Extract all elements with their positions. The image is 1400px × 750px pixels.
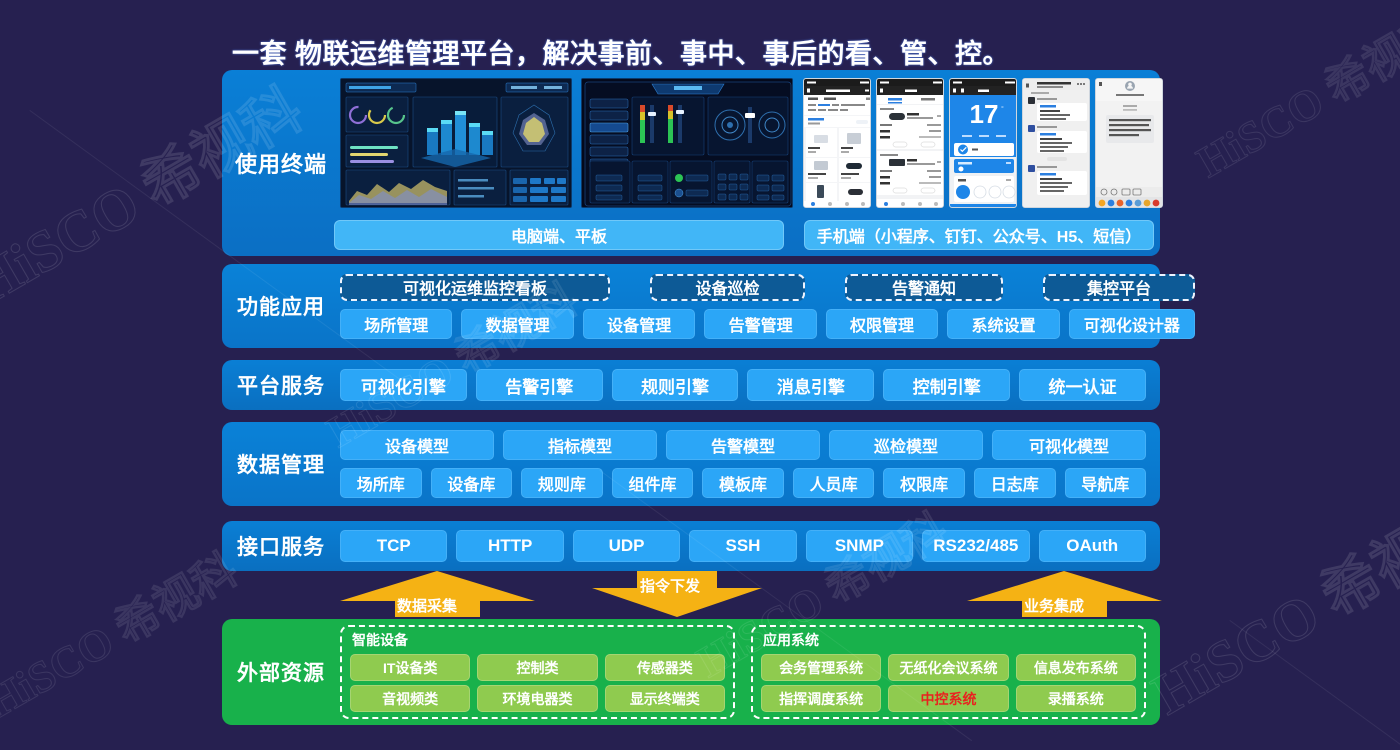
arrow-business-integration: 业务集成 bbox=[967, 571, 1162, 622]
terminal-caption-bar: 电脑端、平板 手机端（小程序、钉钉、公众号、H5、短信） bbox=[222, 220, 1160, 250]
function-apps-highlight-row: 可视化运维监控看板 设备巡检 告警通知 集控平台 bbox=[340, 274, 1195, 301]
repo-device[interactable]: 设备库 bbox=[431, 468, 513, 498]
ext-display-terminals[interactable]: 显示终端类 bbox=[605, 685, 725, 712]
module-alarm-management[interactable]: 告警管理 bbox=[704, 309, 816, 339]
api-oauth[interactable]: OAuth bbox=[1039, 530, 1146, 562]
page-title: 一套 物联运维管理平台，解决事前、事中、事后的看、管、控。 bbox=[232, 32, 1010, 71]
repo-log[interactable]: 日志库 bbox=[974, 468, 1056, 498]
group-title-smart-devices: 智能设备 bbox=[352, 630, 725, 650]
service-unified-auth[interactable]: 统一认证 bbox=[1019, 369, 1146, 401]
section-label-data-management: 数据管理 bbox=[222, 449, 340, 479]
module-device-management[interactable]: 设备管理 bbox=[583, 309, 695, 339]
service-control-engine[interactable]: 控制引擎 bbox=[883, 369, 1010, 401]
section-data-management: 数据管理 设备模型 指标模型 告警模型 巡检模型 可视化模型 场所库 设备库 规… bbox=[222, 422, 1160, 506]
section-label-platform-services: 平台服务 bbox=[222, 370, 340, 400]
arrow-label-business-integration: 业务集成 bbox=[1024, 595, 1084, 616]
api-http[interactable]: HTTP bbox=[456, 530, 563, 562]
ext-sensors[interactable]: 传感器类 bbox=[605, 654, 725, 681]
arrow-label-command-dispatch: 指令下发 bbox=[640, 575, 700, 596]
function-apps-module-row: 场所管理 数据管理 设备管理 告警管理 权限管理 系统设置 可视化设计器 bbox=[340, 309, 1195, 339]
group-application-systems: 应用系统 会务管理系统 无纸化会议系统 信息发布系统 指挥调度系统 中控系统 录… bbox=[751, 625, 1146, 719]
module-permission-management[interactable]: 权限管理 bbox=[826, 309, 938, 339]
repo-rule[interactable]: 规则库 bbox=[521, 468, 603, 498]
watermark-text: HiSCO 希视科 bbox=[0, 534, 247, 729]
svg-text:°: ° bbox=[1001, 105, 1004, 113]
ext-it-equipment[interactable]: IT设备类 bbox=[350, 654, 470, 681]
ext-recording-system[interactable]: 录播系统 bbox=[1016, 685, 1136, 712]
module-data-management[interactable]: 数据管理 bbox=[461, 309, 573, 339]
smart-devices-row-1: IT设备类 控制类 传感器类 bbox=[350, 654, 725, 681]
module-site-management[interactable]: 场所管理 bbox=[340, 309, 452, 339]
phone-device-list[interactable] bbox=[803, 78, 871, 208]
arrow-label-data-collection: 数据采集 bbox=[397, 595, 457, 616]
audio-console-screenshot[interactable] bbox=[581, 78, 793, 208]
phone-message-list[interactable] bbox=[1022, 78, 1090, 208]
section-external-resources: 外部资源 智能设备 IT设备类 控制类 传感器类 音视频类 环境电器类 显示终端… bbox=[222, 619, 1160, 725]
service-message-engine[interactable]: 消息引擎 bbox=[747, 369, 874, 401]
dashboard-screenshot[interactable] bbox=[340, 78, 572, 208]
phone-device-detail[interactable] bbox=[876, 78, 944, 208]
api-services-row: TCP HTTP UDP SSH SNMP RS232/485 OAuth bbox=[340, 530, 1160, 562]
ext-control-devices[interactable]: 控制类 bbox=[477, 654, 597, 681]
repo-template[interactable]: 模板库 bbox=[702, 468, 784, 498]
section-label-terminals: 使用终端 bbox=[222, 147, 340, 179]
platform-services-row: 可视化引擎 告警引擎 规则引擎 消息引擎 控制引擎 统一认证 bbox=[340, 369, 1160, 401]
smart-devices-row-2: 音视频类 环境电器类 显示终端类 bbox=[350, 685, 725, 712]
highlight-alarm-notification[interactable]: 告警通知 bbox=[845, 274, 1003, 301]
watermark-line bbox=[1229, 620, 1400, 750]
api-udp[interactable]: UDP bbox=[573, 530, 680, 562]
watermark-text: HiSCO 希视科 bbox=[1183, 0, 1400, 190]
arrow-data-collection: 数据采集 bbox=[340, 571, 535, 622]
application-systems-row-2: 指挥调度系统 中控系统 录播系统 bbox=[761, 685, 1136, 712]
infographic-root: HiSCO 希视科 HiSCO 希视科 HiSCO 希视科 HiSCO 希视科 … bbox=[0, 0, 1400, 750]
repo-personnel[interactable]: 人员库 bbox=[793, 468, 875, 498]
mobile-terminal-label: 手机端（小程序、钉钉、公众号、H5、短信） bbox=[804, 220, 1154, 250]
pc-terminal-label: 电脑端、平板 bbox=[334, 220, 784, 250]
section-api-services: 接口服务 TCP HTTP UDP SSH SNMP RS232/485 OAu… bbox=[222, 521, 1160, 571]
arrow-command-dispatch: 指令下发 bbox=[592, 571, 762, 622]
ext-command-dispatch-system[interactable]: 指挥调度系统 bbox=[761, 685, 881, 712]
highlight-visual-ops-dashboard[interactable]: 可视化运维监控看板 bbox=[340, 274, 610, 301]
model-metric[interactable]: 指标模型 bbox=[503, 430, 657, 460]
api-rs232-485[interactable]: RS232/485 bbox=[922, 530, 1029, 562]
section-platform-services: 平台服务 可视化引擎 告警引擎 规则引擎 消息引擎 控制引擎 统一认证 bbox=[222, 360, 1160, 410]
phone-thermostat[interactable]: 17 ° bbox=[949, 78, 1017, 208]
group-smart-devices: 智能设备 IT设备类 控制类 传感器类 音视频类 环境电器类 显示终端类 bbox=[340, 625, 735, 719]
section-label-function-apps: 功能应用 bbox=[222, 291, 340, 321]
module-system-settings[interactable]: 系统设置 bbox=[947, 309, 1059, 339]
ext-environment-appliances[interactable]: 环境电器类 bbox=[477, 685, 597, 712]
section-label-external-resources: 外部资源 bbox=[222, 657, 340, 687]
group-title-application-systems: 应用系统 bbox=[763, 630, 1136, 650]
watermark-text: HiSCO 希视科 bbox=[1134, 473, 1400, 730]
highlight-central-control-platform[interactable]: 集控平台 bbox=[1043, 274, 1195, 301]
repo-site[interactable]: 场所库 bbox=[340, 468, 422, 498]
highlight-device-inspection[interactable]: 设备巡检 bbox=[650, 274, 805, 301]
ext-av-devices[interactable]: 音视频类 bbox=[350, 685, 470, 712]
repo-permission[interactable]: 权限库 bbox=[883, 468, 965, 498]
api-snmp[interactable]: SNMP bbox=[806, 530, 913, 562]
ext-conference-management-system[interactable]: 会务管理系统 bbox=[761, 654, 881, 681]
service-rule-engine[interactable]: 规则引擎 bbox=[612, 369, 739, 401]
section-label-api-services: 接口服务 bbox=[222, 531, 340, 561]
api-tcp[interactable]: TCP bbox=[340, 530, 447, 562]
model-device[interactable]: 设备模型 bbox=[340, 430, 494, 460]
api-ssh[interactable]: SSH bbox=[689, 530, 796, 562]
data-models-row: 设备模型 指标模型 告警模型 巡检模型 可视化模型 bbox=[340, 430, 1146, 460]
service-alarm-engine[interactable]: 告警引擎 bbox=[476, 369, 603, 401]
ext-central-control-system[interactable]: 中控系统 bbox=[888, 685, 1008, 712]
repo-navigation[interactable]: 导航库 bbox=[1065, 468, 1147, 498]
phone-chat-detail[interactable] bbox=[1095, 78, 1163, 208]
service-visualization-engine[interactable]: 可视化引擎 bbox=[340, 369, 467, 401]
model-alarm[interactable]: 告警模型 bbox=[666, 430, 820, 460]
section-terminals: 使用终端 bbox=[222, 70, 1160, 256]
thermostat-value: 17 bbox=[970, 99, 999, 129]
ext-information-publishing-system[interactable]: 信息发布系统 bbox=[1016, 654, 1136, 681]
model-visualization[interactable]: 可视化模型 bbox=[992, 430, 1146, 460]
module-visual-designer[interactable]: 可视化设计器 bbox=[1069, 309, 1195, 339]
application-systems-row-1: 会务管理系统 无纸化会议系统 信息发布系统 bbox=[761, 654, 1136, 681]
flow-arrows: 数据采集 指令下发 业务集成 bbox=[222, 571, 1160, 619]
model-inspection[interactable]: 巡检模型 bbox=[829, 430, 983, 460]
ext-paperless-meeting-system[interactable]: 无纸化会议系统 bbox=[888, 654, 1008, 681]
repo-component[interactable]: 组件库 bbox=[612, 468, 694, 498]
data-repositories-row: 场所库 设备库 规则库 组件库 模板库 人员库 权限库 日志库 导航库 bbox=[340, 468, 1146, 498]
section-function-apps: 功能应用 可视化运维监控看板 设备巡检 告警通知 集控平台 场所管理 数据管理 … bbox=[222, 264, 1160, 348]
